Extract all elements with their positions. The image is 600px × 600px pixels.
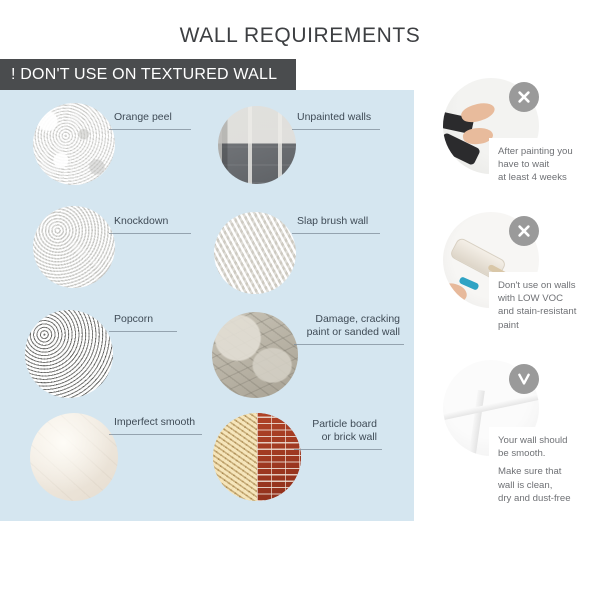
- texture-label-rule: [109, 233, 191, 234]
- texture-label-popcorn: Popcorn: [114, 313, 153, 326]
- texture-label-particle-board: Particle board or brick wall: [299, 418, 377, 444]
- texture-label-rule: [292, 233, 380, 234]
- check-icon: [509, 364, 539, 394]
- particle-board-half: [213, 413, 257, 501]
- texture-label-rule: [109, 434, 202, 435]
- texture-label-unpainted-walls: Unpainted walls: [297, 111, 371, 124]
- texture-label-rule: [109, 129, 191, 130]
- texture-label-orange-peel: Orange peel: [114, 111, 172, 124]
- texture-swatch-imperfect-smooth: [30, 413, 118, 501]
- texture-swatch-knockdown: [33, 206, 115, 288]
- texture-swatch-slap-brush-wall: [214, 212, 296, 294]
- wall-corner-edge-icon: [468, 390, 485, 456]
- brick-wall-half: [257, 413, 301, 501]
- texture-label-rule: [294, 449, 382, 450]
- texture-label-rule: [109, 331, 177, 332]
- warning-banner: ! DON'T USE ON TEXTURED WALL: [0, 59, 296, 90]
- cross-icon: [509, 216, 539, 246]
- texture-label-knockdown: Knockdown: [114, 215, 168, 228]
- warning-banner-text: ! DON'T USE ON TEXTURED WALL: [0, 66, 277, 84]
- requirement-note-smooth: Your wall should be smooth. Make sure th…: [489, 427, 599, 513]
- texture-label-slap-brush-wall: Slap brush wall: [297, 215, 368, 228]
- cross-icon: [509, 82, 539, 112]
- wall-ceiling-edge-icon: [443, 394, 538, 420]
- texture-label-rule: [294, 344, 404, 345]
- texture-swatch-unpainted-walls: [218, 106, 296, 184]
- texture-swatch-popcorn: [25, 310, 113, 398]
- texture-swatch-particle-board: [213, 413, 301, 501]
- texture-swatch-orange-peel: [33, 103, 115, 185]
- page-title: WALL REQUIREMENTS: [0, 24, 600, 48]
- requirement-note-wait: After painting you have to wait at least…: [489, 138, 597, 193]
- texture-label-rule: [292, 129, 380, 130]
- texture-label-imperfect-smooth: Imperfect smooth: [114, 416, 195, 429]
- infographic-page: WALL REQUIREMENTS ! DON'T USE ON TEXTURE…: [0, 0, 600, 600]
- texture-label-damage-cracking: Damage, cracking paint or sanded wall: [299, 313, 400, 339]
- requirement-note-low-voc: Don't use on walls with LOW VOC and stai…: [489, 272, 599, 340]
- texture-swatch-damage-cracking: [212, 312, 298, 398]
